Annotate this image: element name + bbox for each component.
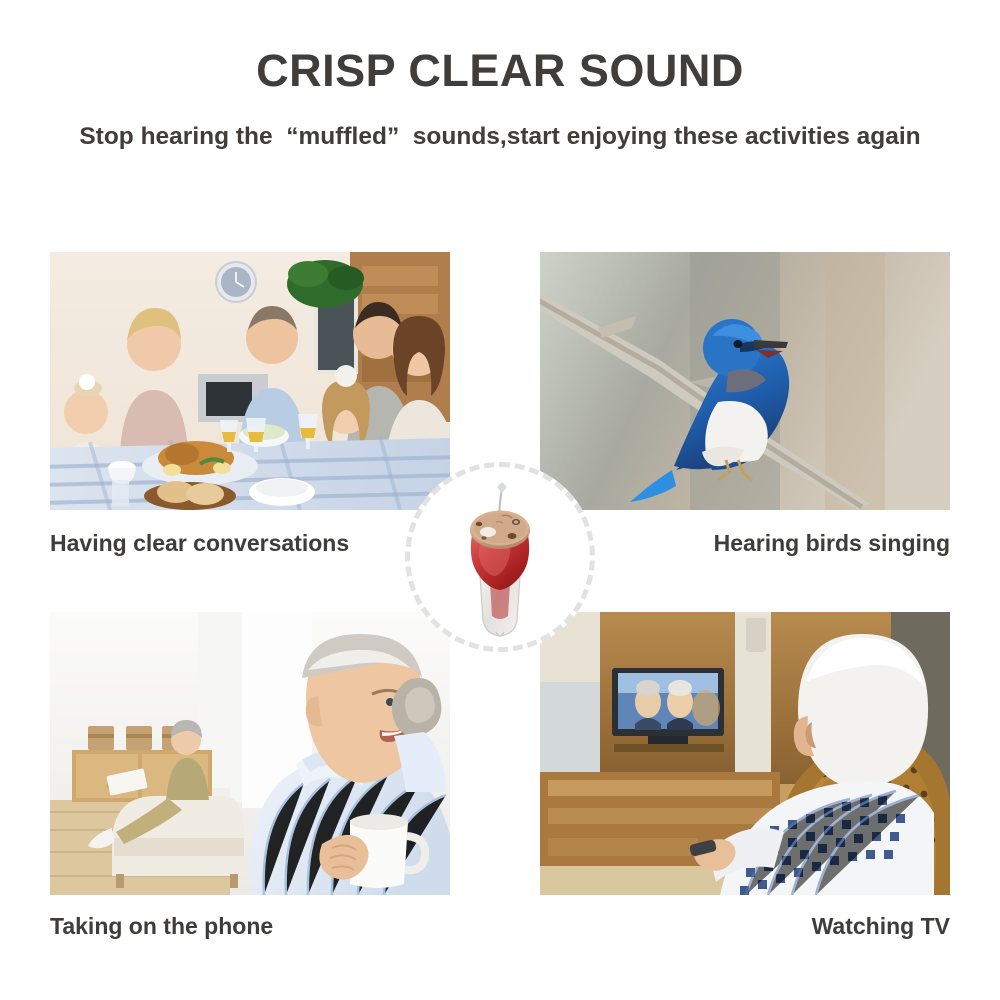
vent-hole-lower — [481, 536, 486, 540]
singing-bird-photo — [540, 252, 950, 510]
microphone-port — [508, 533, 517, 539]
hearing-aid-device — [410, 467, 590, 647]
hearing-aid-icon — [440, 472, 560, 642]
hearing-aid-badge — [405, 462, 595, 652]
phone-call-photo — [50, 612, 450, 895]
watching-tv-photo — [540, 612, 950, 895]
caption-phone: Taking on the phone — [50, 913, 273, 940]
singing-bird-illustration — [540, 252, 950, 510]
page-title: CRISP CLEAR SOUND — [0, 46, 1000, 96]
cell-phone — [50, 612, 450, 895]
cell-conversations — [50, 252, 450, 510]
family-dinner-illustration — [50, 252, 450, 510]
volume-control — [480, 527, 496, 537]
phone-call-illustration — [50, 612, 450, 895]
caption-tv: Watching TV — [812, 913, 950, 940]
wire-knob — [497, 482, 507, 493]
cell-birds — [540, 252, 950, 510]
family-dinner-photo — [50, 252, 450, 510]
watching-tv-illustration — [540, 612, 950, 895]
caption-conversations: Having clear conversations — [50, 530, 349, 557]
promo-page: CRISP CLEAR SOUND Stop hearing the “muff… — [0, 0, 1000, 1000]
caption-birds: Hearing birds singing — [714, 530, 950, 557]
vent-hole-left — [476, 522, 482, 526]
page-subtitle: Stop hearing the “muffled” sounds,start … — [0, 122, 1000, 151]
cell-tv — [540, 612, 950, 895]
